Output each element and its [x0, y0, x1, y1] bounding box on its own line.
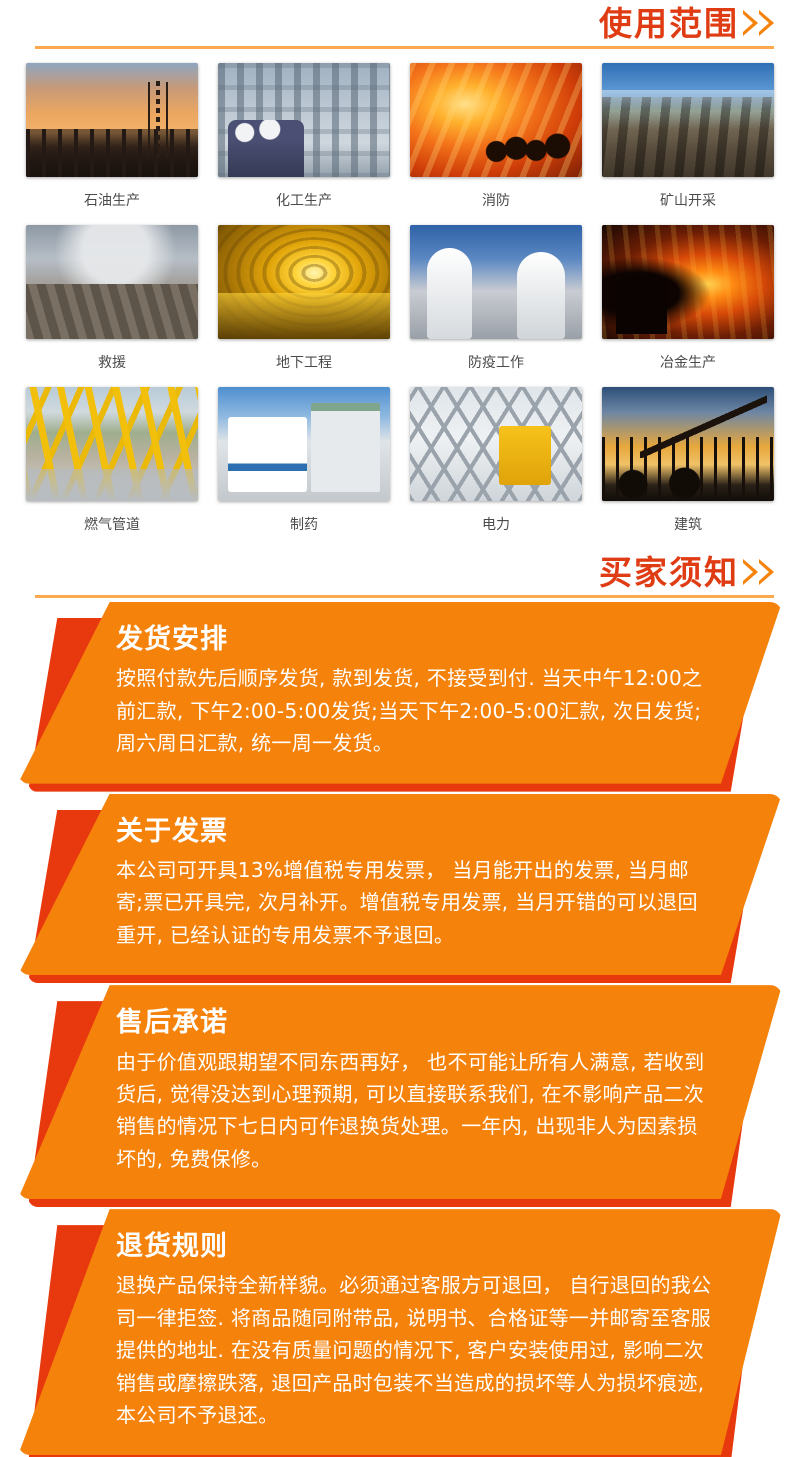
usage-scope-label: 化工生产 [276, 190, 332, 210]
usage-section-title: 使用范围 [599, 7, 739, 40]
construction-photo [602, 387, 774, 501]
buyer-section-title: 买家须知 [599, 556, 739, 589]
double-chevron-right-icon [743, 10, 774, 36]
usage-scope-item: 电力 [400, 387, 592, 549]
notice-card-body: 退货规则退换产品保持全新样貌。必须通过客服方可退回， 自行退回的我公司一律拒签.… [18, 1209, 782, 1455]
chevron-right-icon-1 [743, 559, 758, 585]
double-chevron-right-icon [743, 559, 774, 585]
notice-card-text: 按照付款先后顺序发货, 款到发货, 不接受到付. 当天中午12:00之前汇款, … [116, 662, 712, 759]
product-detail-page: 使用范围 石油生产化工生产消防矿山开采救援地下工程防疫工作冶金生产燃气管道制药电… [0, 0, 800, 1457]
usage-scope-item: 燃气管道 [16, 387, 208, 549]
usage-scope-label: 防疫工作 [468, 352, 524, 372]
chemical-production-photo [218, 63, 390, 177]
notice-card-body: 售后承诺由于价值观跟期望不同东西再好， 也不可能让所有人满意, 若收到货后, 觉… [18, 985, 782, 1199]
usage-scope-label: 建筑 [674, 514, 702, 534]
usage-scope-item: 制药 [208, 387, 400, 549]
usage-scope-item: 防疫工作 [400, 225, 592, 387]
notice-card-title: 关于发票 [116, 816, 712, 848]
usage-scope-item: 化工生产 [208, 63, 400, 225]
usage-scope-item: 石油生产 [16, 63, 208, 225]
chevron-right-icon-1 [743, 10, 758, 36]
electric-power-photo [410, 387, 582, 501]
buyer-section-header: 买家须知 [0, 549, 800, 598]
notice-card-body: 关于发票本公司可开具13%增值税专用发票， 当月能开出的发票, 当月邮寄;票已开… [18, 794, 782, 976]
usage-header-divider [35, 46, 774, 49]
usage-scope-label: 燃气管道 [84, 514, 140, 534]
usage-scope-label: 矿山开采 [660, 190, 716, 210]
notice-card-body: 发货安排按照付款先后顺序发货, 款到发货, 不接受到付. 当天中午12:00之前… [18, 602, 782, 784]
notice-card-title: 发货安排 [116, 624, 712, 656]
pharmaceutical-photo [218, 387, 390, 501]
usage-scope-label: 石油生产 [84, 190, 140, 210]
gas-pipeline-photo [26, 387, 198, 501]
notice-card-text: 本公司可开具13%增值税专用发票， 当月能开出的发票, 当月邮寄;票已开具完, … [116, 854, 712, 951]
usage-scope-label: 消防 [482, 190, 510, 210]
usage-scope-item: 冶金生产 [592, 225, 784, 387]
usage-header-row: 使用范围 [0, 0, 800, 46]
usage-scope-label: 冶金生产 [660, 352, 716, 372]
chevron-right-icon-2 [759, 10, 774, 36]
usage-scope-label: 电力 [482, 514, 510, 534]
usage-section-header: 使用范围 [0, 0, 800, 49]
chevron-right-icon-2 [759, 559, 774, 585]
notice-card: 关于发票本公司可开具13%增值税专用发票， 当月能开出的发票, 当月邮寄;票已开… [18, 794, 782, 976]
usage-scope-item: 救援 [16, 225, 208, 387]
buyer-header-divider [35, 595, 774, 598]
usage-scope-grid: 石油生产化工生产消防矿山开采救援地下工程防疫工作冶金生产燃气管道制药电力建筑 [0, 49, 800, 549]
mining-photo [602, 63, 774, 177]
metallurgy-photo [602, 225, 774, 339]
notice-card-title: 售后承诺 [116, 1007, 712, 1039]
notice-card: 退货规则退换产品保持全新样貌。必须通过客服方可退回， 自行退回的我公司一律拒签.… [18, 1209, 782, 1455]
buyer-notice-list: 发货安排按照付款先后顺序发货, 款到发货, 不接受到付. 当天中午12:00之前… [0, 602, 800, 1455]
notice-card: 售后承诺由于价值观跟期望不同东西再好， 也不可能让所有人满意, 若收到货后, 觉… [18, 985, 782, 1199]
usage-scope-item: 矿山开采 [592, 63, 784, 225]
notice-card: 发货安排按照付款先后顺序发货, 款到发货, 不接受到付. 当天中午12:00之前… [18, 602, 782, 784]
notice-card-text: 退换产品保持全新样貌。必须通过客服方可退回， 自行退回的我公司一律拒签. 将商品… [116, 1269, 712, 1431]
rescue-photo [26, 225, 198, 339]
usage-scope-label: 地下工程 [276, 352, 332, 372]
oil-production-photo [26, 63, 198, 177]
usage-scope-item: 地下工程 [208, 225, 400, 387]
usage-scope-label: 救援 [98, 352, 126, 372]
buyer-header-row: 买家须知 [0, 549, 800, 595]
notice-card-text: 由于价值观跟期望不同东西再好， 也不可能让所有人满意, 若收到货后, 觉得没达到… [116, 1046, 712, 1176]
underground-engineering-photo [218, 225, 390, 339]
epidemic-prevention-photo [410, 225, 582, 339]
firefighting-photo [410, 63, 582, 177]
notice-card-title: 退货规则 [116, 1231, 712, 1263]
usage-scope-item: 建筑 [592, 387, 784, 549]
usage-scope-item: 消防 [400, 63, 592, 225]
usage-scope-label: 制药 [290, 514, 318, 534]
